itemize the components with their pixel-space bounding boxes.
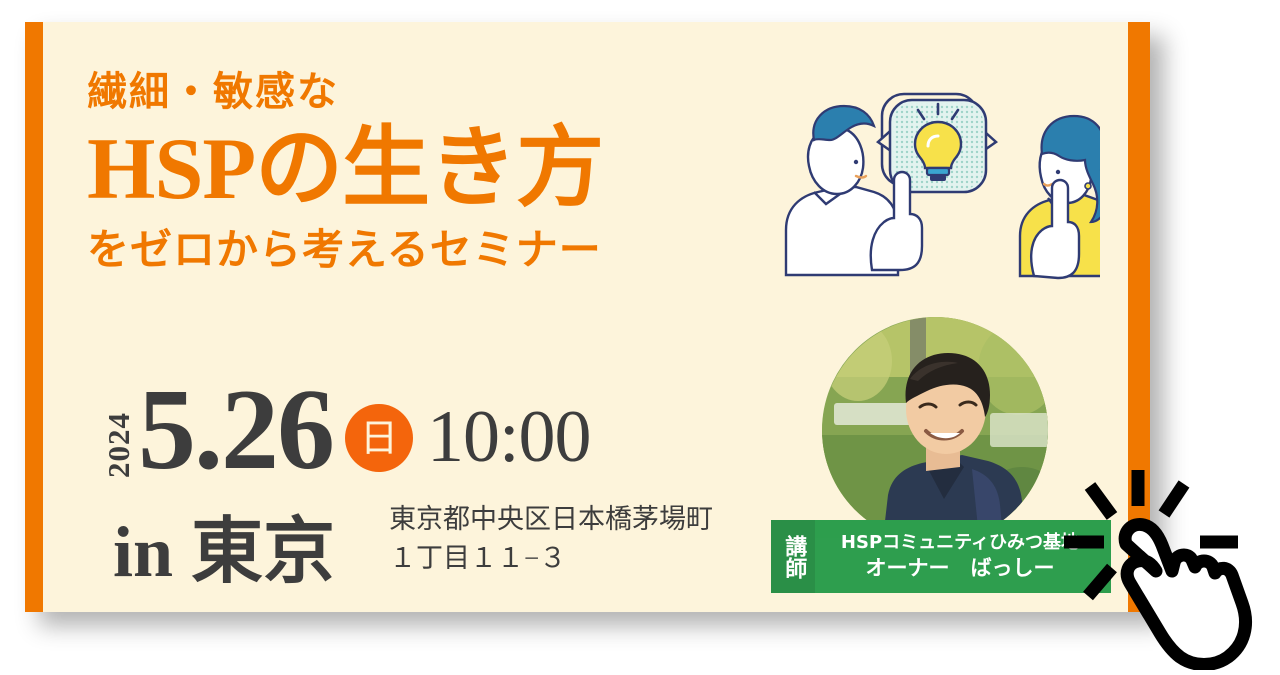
speaker-organization: HSPコミュニティひみつ基地	[841, 532, 1079, 555]
speaker-role-badge: 講師	[771, 520, 815, 593]
cursor-svg	[1060, 438, 1280, 670]
headline-block: 繊細・敏感な HSPの生き方 をゼロから考えるセミナー	[87, 70, 747, 275]
venue-address: 東京都中央区日本橋茅場町 １丁目１１−３	[389, 500, 713, 578]
speaker-name: オーナー ばっしー	[866, 555, 1055, 581]
page-title: HSPの生き方	[87, 122, 747, 217]
headline-kicker: 繊細・敏感な	[87, 70, 747, 114]
speaker-role-label: 講師	[782, 535, 804, 579]
speaker-photo-svg	[822, 317, 1052, 547]
seminar-poster-card[interactable]: 繊細・敏感な HSPの生き方 をゼロから考えるセミナー	[25, 22, 1150, 612]
person-pointing-up-female-icon	[1020, 116, 1100, 278]
sunday-badge-icon: 日	[345, 404, 413, 472]
people-idea-illustration	[770, 80, 1100, 295]
left-orange-accent-bar	[25, 22, 43, 612]
venue-block: in 東京 東京都中央区日本橋茅場町 １丁目１１−３	[105, 500, 713, 594]
event-year: 2024	[103, 412, 134, 478]
event-date-row: 2024 5.26 日 10:00	[103, 374, 591, 484]
headline-subtitle: をゼロから考えるセミナー	[87, 227, 747, 275]
venue-city: in 東京	[105, 516, 343, 594]
event-date: 5.26	[138, 377, 333, 484]
illustration-svg	[770, 80, 1100, 295]
pointing-hand-cursor-icon[interactable]	[1060, 438, 1280, 670]
venue-address-line2: １丁目１１−３	[389, 539, 713, 578]
event-start-time: 10:00	[427, 400, 591, 474]
venue-address-line1: 東京都中央区日本橋茅場町	[389, 500, 713, 539]
day-of-week-label: 日	[360, 419, 398, 457]
speaker-portrait-photo	[815, 310, 1055, 550]
